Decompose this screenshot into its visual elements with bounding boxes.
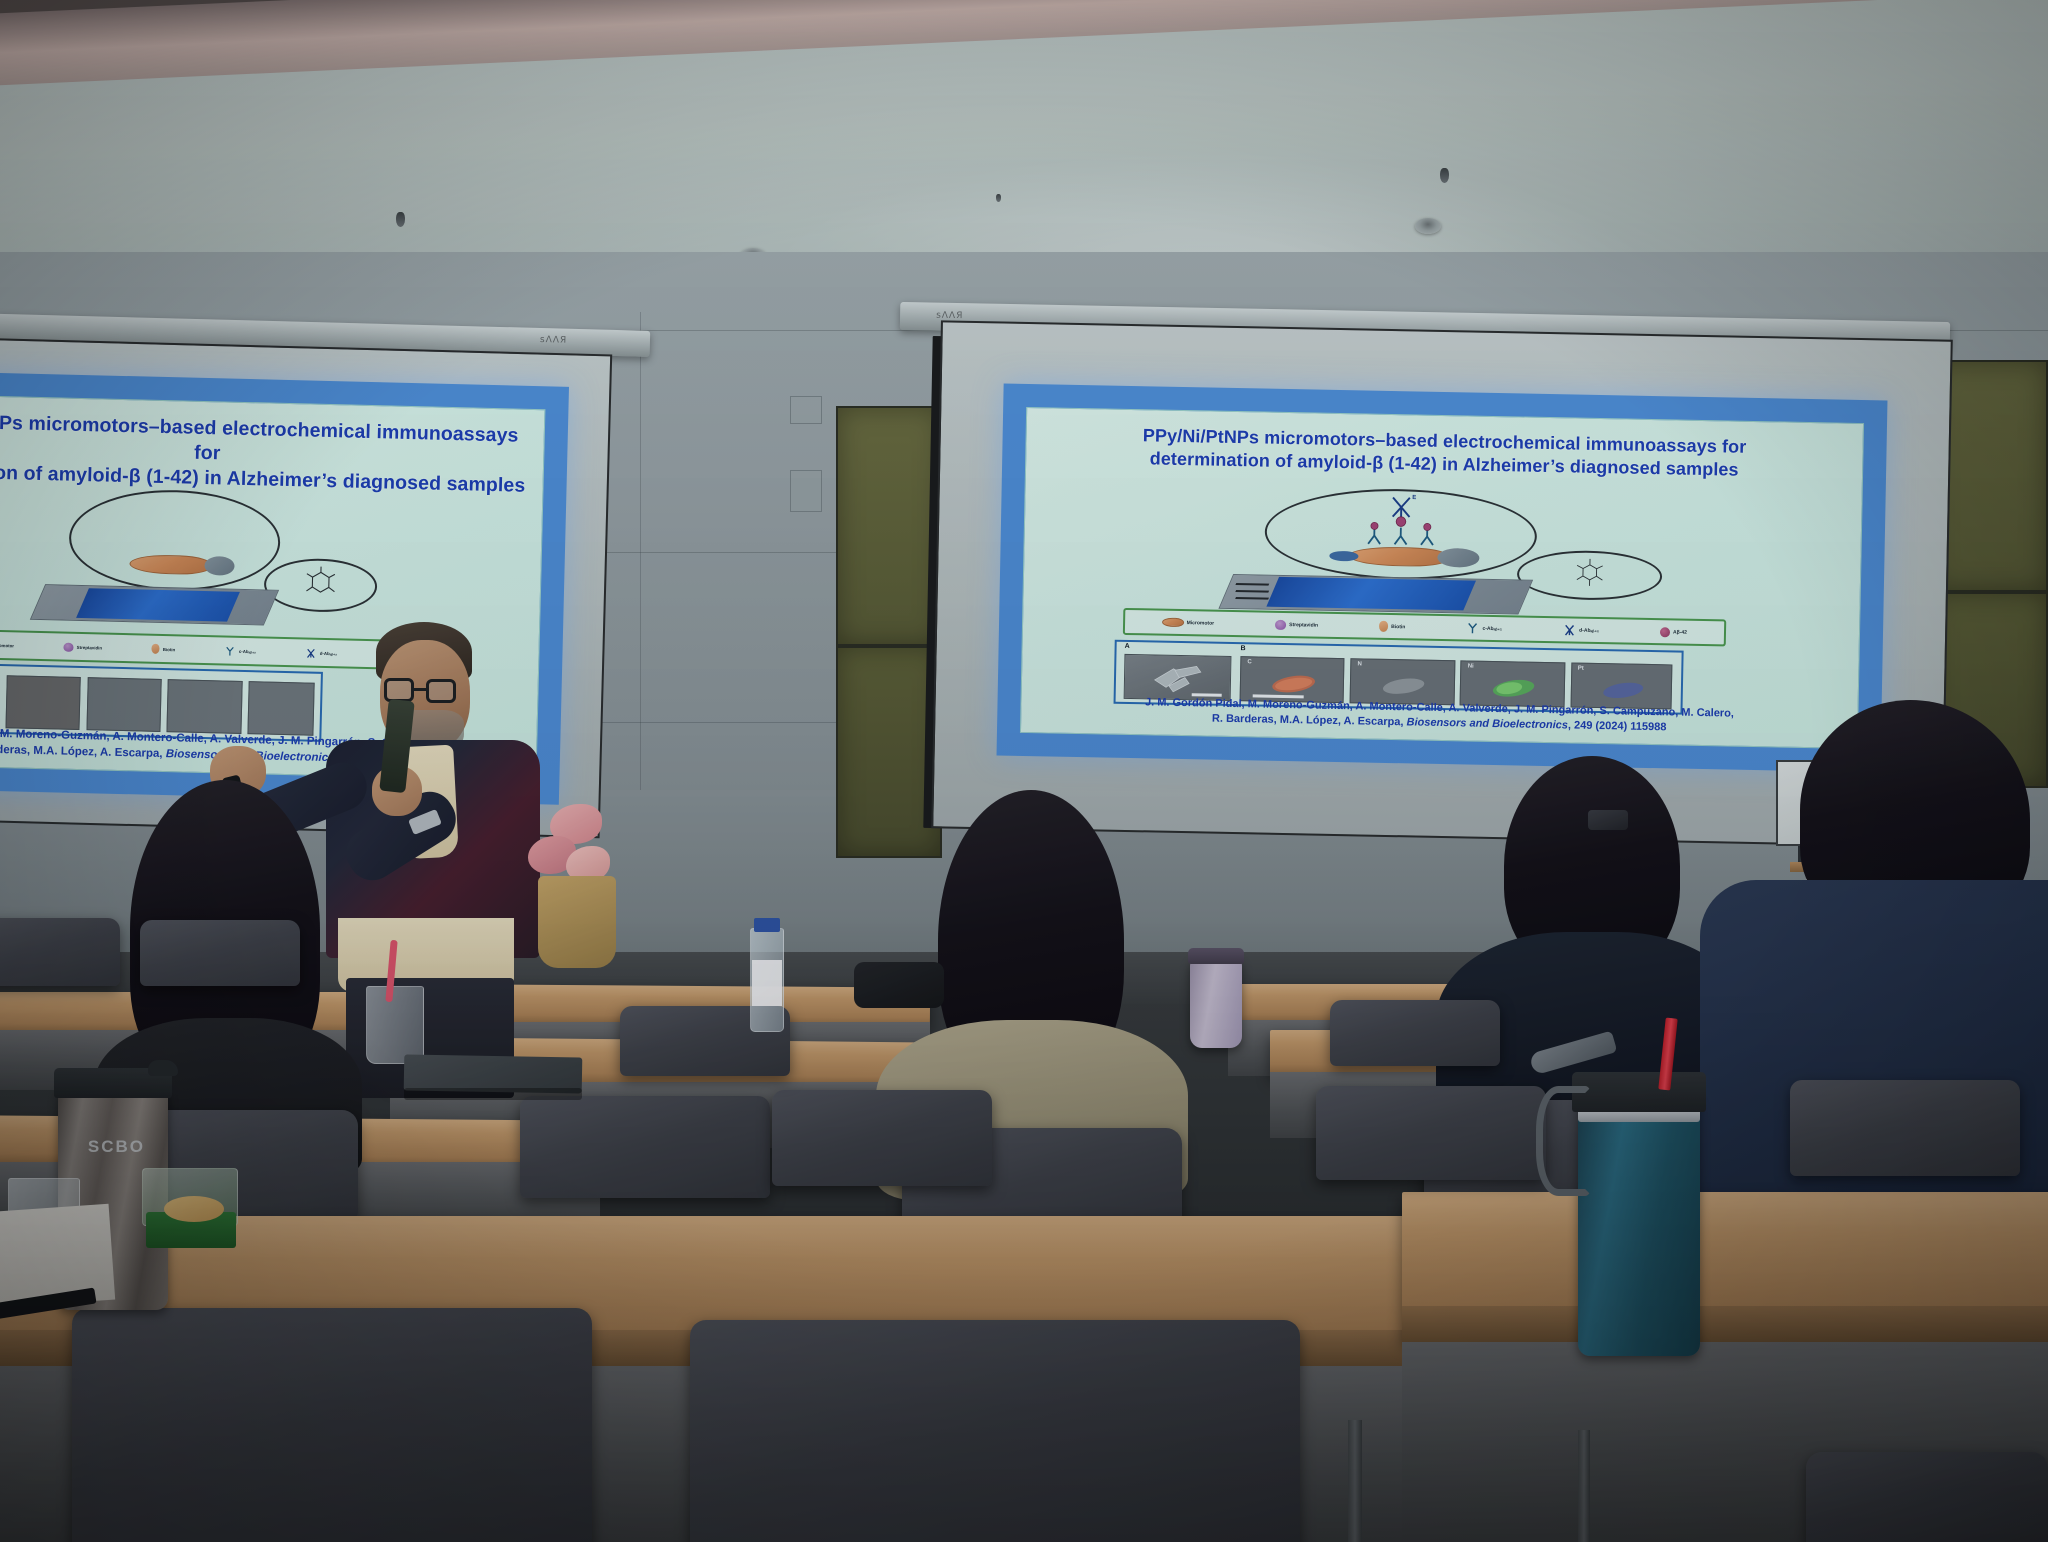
chair-midrow-c [1316,1086,1546,1180]
wall-plate [790,470,822,512]
water-bottle-label [752,960,782,1006]
wall-seam [640,312,641,832]
steel-tumbler-lid-tab[interactable] [148,1060,178,1076]
panel-letter-b: B [1240,646,1245,653]
teal-tumbler-handle[interactable] [1536,1086,1592,1196]
element-map-label-C: C [1247,660,1251,666]
nitrogen-map-signal [1351,659,1454,704]
schematic-electrode-active [77,589,240,622]
flower-arrangement [520,790,630,950]
sem-image-panel-a [1124,654,1232,701]
water-bottle-cap [754,918,780,932]
chair-backrow-d [140,920,300,986]
bag [854,962,944,1008]
streptavidin-icon [64,642,74,651]
legend-item-detection-antibody: d-Abₐᵦ₄₂ [1563,623,1599,637]
desk-front-edge-right [1402,1306,2048,1346]
element-map-N: N [1350,658,1455,705]
tumbler-brand-text: SCBO [88,1137,145,1157]
electrode-contact-line [1235,597,1269,600]
element-map-C: C [1239,656,1344,703]
element-map-Ni: Ni [1460,660,1565,707]
molecule-structure-icon [1519,551,1661,599]
chair-midrow-d [1790,1080,2020,1176]
ceiling-beam [0,0,2048,87]
legend-item-biotin: Biotin [1379,621,1405,633]
clear-plastic-cup[interactable] [366,986,424,1064]
wall-plate [790,396,822,424]
teal-tumbler[interactable] [1578,1096,1700,1356]
teal-tumbler-lid[interactable] [1572,1072,1706,1112]
chair-leg [1348,1420,1362,1542]
slide-title: PPy/Ni/PtNPs micromotors–based electroch… [1042,422,1846,483]
element-map-label-N: N [1357,662,1361,668]
element-map-Pt: Pt [1570,663,1673,710]
immunoassay-sandwich-diagram: E [1264,487,1538,582]
slide-schematic: E [1207,486,1678,631]
hair-claw-clip [1588,810,1628,830]
svg-text:E: E [1412,495,1416,501]
chair-foreground-left [72,1308,592,1542]
flower-wrap [538,876,616,968]
laptop-shadow [404,1088,582,1100]
chair-midrow-a [520,1096,770,1198]
chair-foreground-right [1806,1452,2048,1542]
pastry [164,1196,224,1222]
legend-item: Micromotor [0,640,14,649]
capture-antibody-icon [225,645,236,656]
platinum-map-signal [1571,664,1672,709]
biotin-icon [1379,621,1388,632]
ceiling-sprinkler [396,212,405,227]
micromotor-icon [1162,618,1184,627]
legend-item-streptavidin: Streptavidin [1275,619,1318,630]
slide-left-title: PPy/Ni/PtNPs micromotors–based electroch… [0,409,531,500]
glasses-lens-left [384,678,414,702]
legend-item-amyloid-beta: Aβ-42 [1660,627,1687,638]
element-map-label-Pt: Pt [1578,666,1584,672]
element-map-C [6,675,82,730]
biotin-icon [152,644,160,654]
legend-item-micromotor: Micromotor [1162,618,1215,628]
schematic-electrode-active [1267,577,1477,611]
lilac-tumbler-lid[interactable] [1188,948,1244,964]
capture-antibody-icon [1466,622,1479,635]
schematic-molecule-bubble [1517,549,1663,601]
detection-antibody-icon [1563,623,1576,636]
element-map-N [86,677,162,732]
legend-item: Biotin [152,644,176,655]
schematic-micromotor-tip [1330,551,1358,561]
chair-leg [1578,1430,1590,1542]
amyloid-beta-icon [1660,627,1670,637]
lecture-hall-photo: sΛΛЯ PPy/Ni/PtNPs micromotors–based elec… [0,0,2048,1542]
ceiling-sprinkler [996,194,1001,202]
element-map-label-Ni: Ni [1468,664,1474,670]
panel-letter-a: A [1125,643,1130,650]
glasses-lens-right [426,679,456,703]
slide-right-content: PPy/Ni/PtNPs micromotors–based electroch… [1019,406,1864,749]
lilac-tumbler[interactable] [1190,958,1242,1048]
streptavidin-icon [1275,619,1286,629]
chair-foreground-center [690,1320,1300,1542]
molecule-structure-icon [266,559,376,611]
ceiling-spotlight [1415,218,1441,234]
schematic-molecule-bubble [264,557,378,613]
nickel-map-signal [1461,661,1564,706]
ceiling-sprinkler [1440,168,1449,183]
glasses-bridge [414,688,428,691]
schematic-magnifier-bubble [68,487,281,593]
element-map-Ni [167,679,243,734]
chair-backrow-b [1330,1000,1500,1066]
screen-brand-label: sΛΛЯ [540,335,568,346]
wall-glass-panel [836,406,942,646]
legend-item-capture-antibody: c-Abₐᵦ₄₂ [1466,622,1502,636]
chair-backrow-c [0,918,120,986]
chair-midrow-b [772,1090,992,1186]
legend-item: Streptavidin [64,642,103,652]
